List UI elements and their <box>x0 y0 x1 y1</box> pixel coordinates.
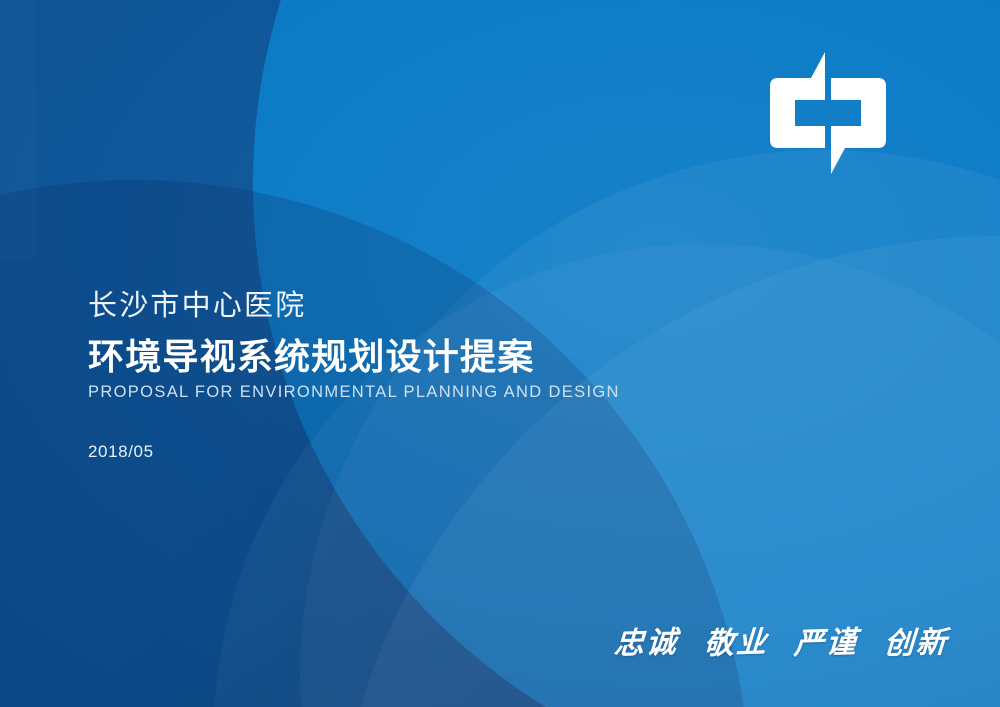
cover-slide: 长沙市中心医院 环境导视系统规划设计提案 PROPOSAL FOR ENVIRO… <box>0 0 1000 707</box>
hospital-logo-icon <box>762 52 894 174</box>
date-label: 2018/05 <box>88 442 708 462</box>
motto-word: 忠诚 <box>613 628 679 660</box>
organization-name: 长沙市中心医院 <box>88 288 708 324</box>
motto-block: 忠诚 敬业 严谨 创新 <box>614 629 948 659</box>
motto-word: 创新 <box>883 628 949 660</box>
motto-word: 敬业 <box>703 628 769 660</box>
title-block: 长沙市中心医院 环境导视系统规划设计提案 PROPOSAL FOR ENVIRO… <box>88 288 708 462</box>
motto-word: 严谨 <box>793 628 859 660</box>
page-title: 环境导视系统规划设计提案 <box>88 335 708 379</box>
page-subtitle: PROPOSAL FOR ENVIRONMENTAL PLANNING AND … <box>88 382 708 403</box>
